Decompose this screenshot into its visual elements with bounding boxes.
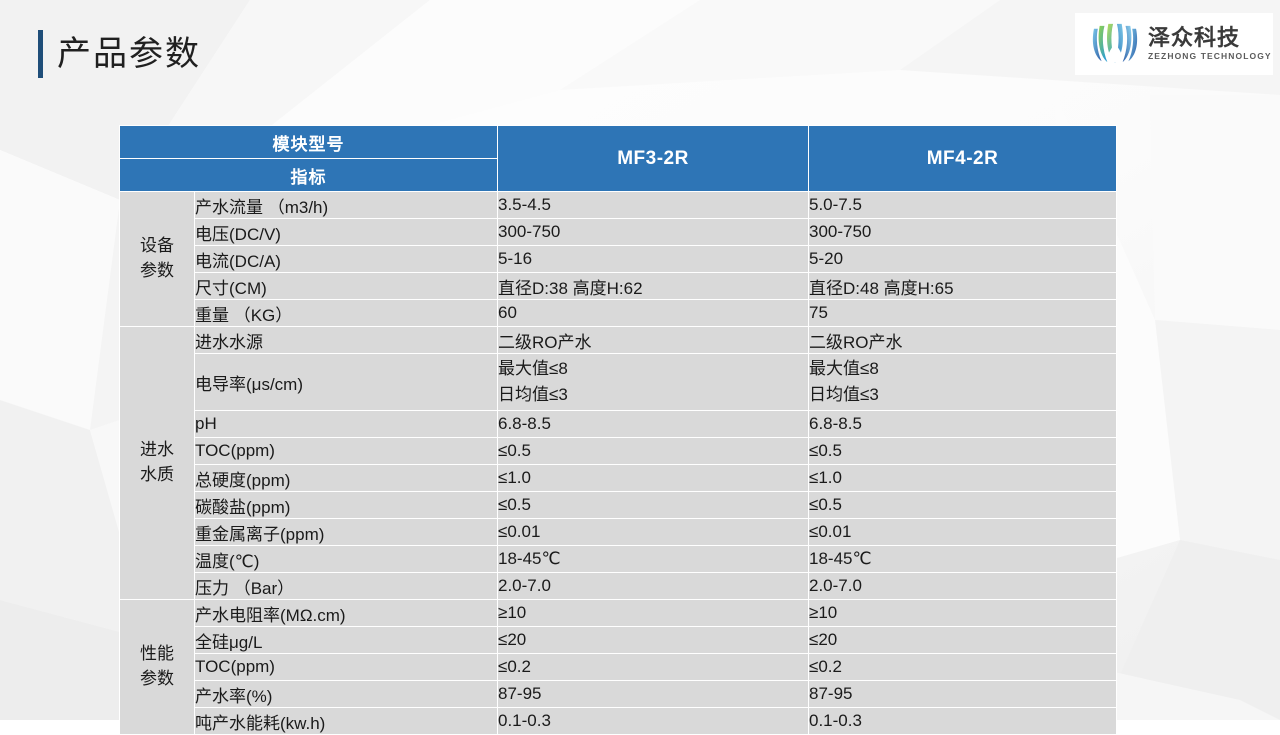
row-value-mf3: 3.5-4.5: [498, 192, 809, 219]
row-value-mf4: ≤0.2: [809, 654, 1117, 681]
table-row: 电压(DC/V) 300-750 300-750: [120, 219, 1117, 246]
row-value-mf4: 87-95: [809, 681, 1117, 708]
row-item: pH: [195, 411, 498, 438]
row-value-mf3: 60: [498, 300, 809, 327]
row-item: 碳酸盐(ppm): [195, 492, 498, 519]
logo-name-cn: 泽众科技: [1148, 26, 1272, 49]
logo-name-en: ZEZHONG TECHNOLOGY: [1148, 51, 1272, 61]
table-row: pH 6.8-8.5 6.8-8.5: [120, 411, 1117, 438]
row-value-mf4: ≤1.0: [809, 465, 1117, 492]
table-row: 尺寸(CM) 直径D:38 高度H:62 直径D:48 高度H:65: [120, 273, 1117, 300]
row-value-mf3: 87-95: [498, 681, 809, 708]
header-row-model: 模块型号 MF3-2R MF4-2R: [120, 126, 1117, 159]
row-value-mf3: 0.1-0.3: [498, 708, 809, 735]
row-item: 温度(℃): [195, 546, 498, 573]
logo-text-block: 泽众科技 ZEZHONG TECHNOLOGY: [1148, 26, 1272, 61]
group-label-equipment: 设备 参数: [120, 192, 195, 327]
value-line-2: 日均值≤3: [498, 382, 808, 408]
row-item: 电压(DC/V): [195, 219, 498, 246]
header-model-label: 模块型号: [120, 126, 498, 159]
row-value-mf4: 5.0-7.5: [809, 192, 1117, 219]
row-value-mf3: 5-16: [498, 246, 809, 273]
company-logo: 泽众科技 ZEZHONG TECHNOLOGY: [1075, 13, 1273, 75]
slide-header: 产品参数: [0, 0, 1280, 108]
group-label-line2: 水质: [140, 465, 174, 484]
table-row: 进水 水质 进水水源 二级RO产水 二级RO产水: [120, 327, 1117, 354]
row-item: 重金属离子(ppm): [195, 519, 498, 546]
row-value-mf4: 6.8-8.5: [809, 411, 1117, 438]
row-value-mf4: ≤0.01: [809, 519, 1117, 546]
row-item: 进水水源: [195, 327, 498, 354]
product-spec-table: 模块型号 MF3-2R MF4-2R 指标 设备 参数 产水流量 （m3/h) …: [119, 125, 1117, 735]
page-title-block: 产品参数: [38, 27, 201, 81]
row-value-mf4: 75: [809, 300, 1117, 327]
table-row: 电流(DC/A) 5-16 5-20: [120, 246, 1117, 273]
table-row: 重量 （KG） 60 75: [120, 300, 1117, 327]
spec-table-head: 模块型号 MF3-2R MF4-2R 指标: [120, 126, 1117, 192]
table-row: 全硅μg/L ≤20 ≤20: [120, 627, 1117, 654]
table-row: TOC(ppm) ≤0.2 ≤0.2: [120, 654, 1117, 681]
row-value-mf3: ≤0.5: [498, 438, 809, 465]
row-value-mf3: 18-45℃: [498, 546, 809, 573]
spec-table-container: 模块型号 MF3-2R MF4-2R 指标 设备 参数 产水流量 （m3/h) …: [119, 125, 1116, 735]
row-value-mf3: ≤0.01: [498, 519, 809, 546]
row-item: 全硅μg/L: [195, 627, 498, 654]
row-value-mf4: 5-20: [809, 246, 1117, 273]
row-value-mf4: 二级RO产水: [809, 327, 1117, 354]
leaf-droplet-logo-icon: [1091, 22, 1139, 66]
table-row: 电导率(μs/cm) 最大值≤8 日均值≤3 最大值≤8 日均值≤3: [120, 354, 1117, 411]
table-row: 重金属离子(ppm) ≤0.01 ≤0.01: [120, 519, 1117, 546]
value-line-1: 最大值≤8: [498, 356, 808, 382]
table-row: 设备 参数 产水流量 （m3/h) 3.5-4.5 5.0-7.5: [120, 192, 1117, 219]
row-item: 产水电阻率(MΩ.cm): [195, 600, 498, 627]
table-row: 吨产水能耗(kw.h) 0.1-0.3 0.1-0.3: [120, 708, 1117, 735]
row-item: 电导率(μs/cm): [195, 354, 498, 411]
table-row: TOC(ppm) ≤0.5 ≤0.5: [120, 438, 1117, 465]
header-index-label: 指标: [120, 159, 498, 192]
row-value-mf3: ≥10: [498, 600, 809, 627]
row-value-mf3: ≤20: [498, 627, 809, 654]
row-item: 尺寸(CM): [195, 273, 498, 300]
row-value-mf3: ≤0.5: [498, 492, 809, 519]
table-row: 总硬度(ppm) ≤1.0 ≤1.0: [120, 465, 1117, 492]
row-item: 产水流量 （m3/h): [195, 192, 498, 219]
value-line-1: 最大值≤8: [809, 356, 1116, 382]
row-value-mf4: 最大值≤8 日均值≤3: [809, 354, 1117, 411]
row-value-mf4: 300-750: [809, 219, 1117, 246]
row-value-mf4: ≤0.5: [809, 438, 1117, 465]
header-col-mf3: MF3-2R: [498, 126, 809, 192]
group-label-line2: 参数: [140, 261, 174, 280]
row-item: 重量 （KG）: [195, 300, 498, 327]
row-value-mf4: ≤0.5: [809, 492, 1117, 519]
header-col-mf4: MF4-2R: [809, 126, 1117, 192]
group-label-line1: 设备: [140, 236, 174, 255]
table-row: 性能 参数 产水电阻率(MΩ.cm) ≥10 ≥10: [120, 600, 1117, 627]
row-value-mf3: 2.0-7.0: [498, 573, 809, 600]
row-item: 吨产水能耗(kw.h): [195, 708, 498, 735]
row-value-mf3: ≤1.0: [498, 465, 809, 492]
row-value-mf3: 最大值≤8 日均值≤3: [498, 354, 809, 411]
row-item: 产水率(%): [195, 681, 498, 708]
group-label-performance: 性能 参数: [120, 600, 195, 735]
row-value-mf3: 直径D:38 高度H:62: [498, 273, 809, 300]
row-value-mf4: 18-45℃: [809, 546, 1117, 573]
group-label-line1: 性能: [140, 644, 174, 663]
row-value-mf4: ≥10: [809, 600, 1117, 627]
page-title: 产品参数: [57, 37, 201, 71]
row-value-mf3: 300-750: [498, 219, 809, 246]
row-item: 压力 （Bar）: [195, 573, 498, 600]
row-item: TOC(ppm): [195, 654, 498, 681]
group-label-line1: 进水: [140, 440, 174, 459]
group-label-line2: 参数: [140, 669, 174, 688]
title-accent-bar: [38, 30, 43, 78]
row-value-mf3: ≤0.2: [498, 654, 809, 681]
row-item: 总硬度(ppm): [195, 465, 498, 492]
row-value-mf4: 2.0-7.0: [809, 573, 1117, 600]
table-row: 温度(℃) 18-45℃ 18-45℃: [120, 546, 1117, 573]
row-value-mf3: 二级RO产水: [498, 327, 809, 354]
row-value-mf4: 0.1-0.3: [809, 708, 1117, 735]
table-row: 碳酸盐(ppm) ≤0.5 ≤0.5: [120, 492, 1117, 519]
table-row: 产水率(%) 87-95 87-95: [120, 681, 1117, 708]
row-value-mf4: ≤20: [809, 627, 1117, 654]
row-item: 电流(DC/A): [195, 246, 498, 273]
table-row: 压力 （Bar） 2.0-7.0 2.0-7.0: [120, 573, 1117, 600]
group-label-feedwater: 进水 水质: [120, 327, 195, 600]
value-line-2: 日均值≤3: [809, 382, 1116, 408]
row-item: TOC(ppm): [195, 438, 498, 465]
row-value-mf4: 直径D:48 高度H:65: [809, 273, 1117, 300]
spec-table-body: 设备 参数 产水流量 （m3/h) 3.5-4.5 5.0-7.5 电压(DC/…: [120, 192, 1117, 735]
row-value-mf3: 6.8-8.5: [498, 411, 809, 438]
